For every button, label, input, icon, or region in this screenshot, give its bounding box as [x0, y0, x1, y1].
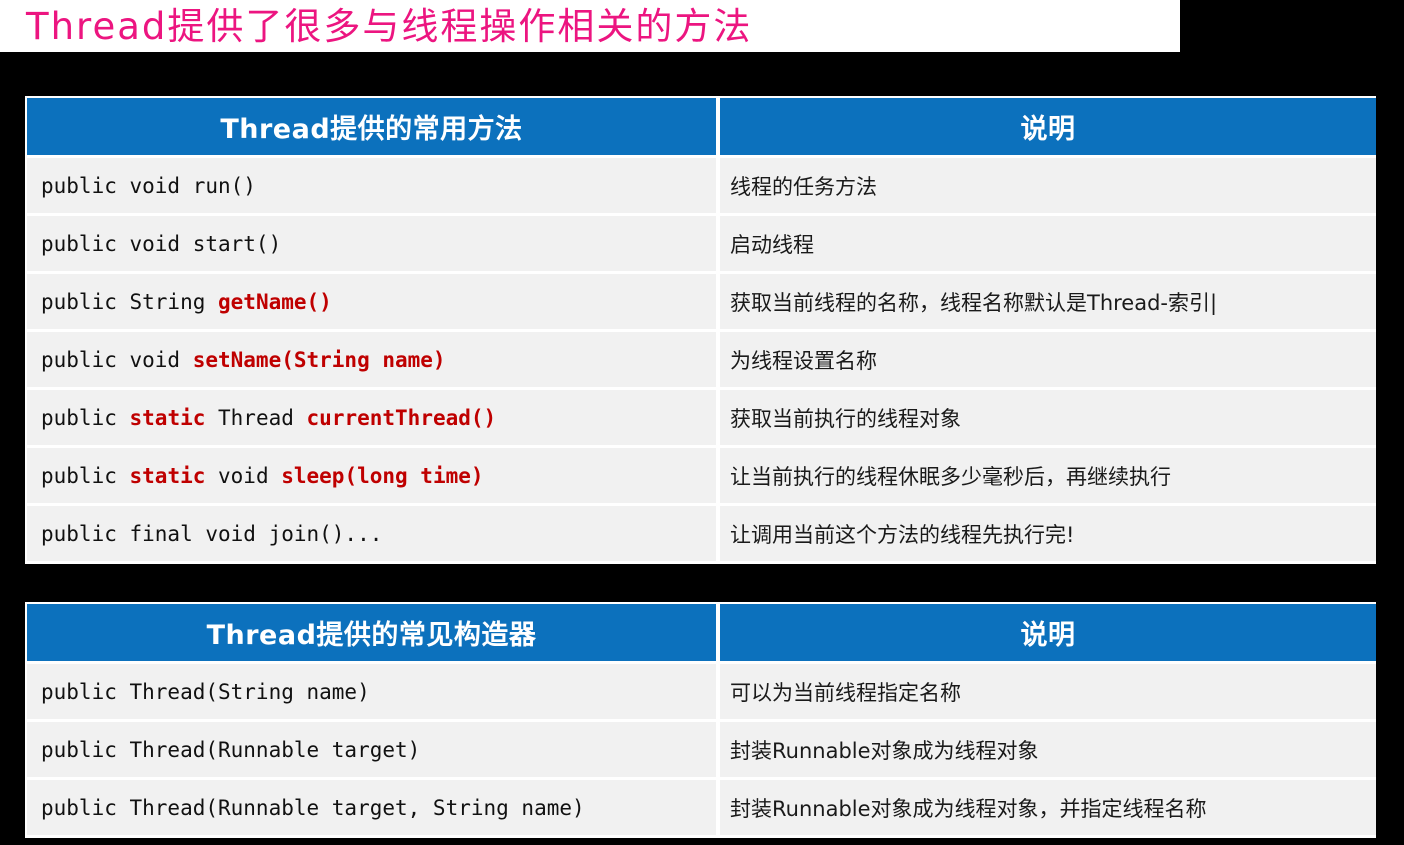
- code-text: public String: [41, 290, 218, 314]
- cell-description: 让调用当前这个方法的线程先执行完!: [720, 506, 1376, 561]
- column-header-description: 说明: [720, 604, 1376, 661]
- cell-description: 为线程设置名称: [720, 332, 1376, 387]
- code-highlight: sleep(long time): [281, 464, 483, 488]
- code-text: void: [205, 464, 281, 488]
- code-highlight: getName(): [218, 290, 332, 314]
- cell-method-signature: public Thread(Runnable target, String na…: [27, 780, 716, 835]
- column-header-signature: Thread提供的常见构造器: [27, 604, 716, 661]
- code-text: public final void join()...: [41, 522, 382, 546]
- cell-description: 让当前执行的线程休眠多少毫秒后，再继续执行: [720, 448, 1376, 503]
- table-bottom-rule: [25, 835, 1376, 838]
- column-header-signature: Thread提供的常用方法: [27, 98, 716, 155]
- cell-method-signature: public String getName(): [27, 274, 716, 329]
- table-thread-methods: Thread提供的常用方法说明public void run()线程的任务方法p…: [25, 96, 1376, 564]
- code-text: public Thread(String name): [41, 680, 370, 704]
- cell-description: 线程的任务方法: [720, 158, 1376, 213]
- table-thread-constructors: Thread提供的常见构造器说明public Thread(String nam…: [25, 602, 1376, 838]
- table-row: public void start()启动线程: [25, 216, 1376, 271]
- column-header-description: 说明: [720, 98, 1376, 155]
- table-row: public void run()线程的任务方法: [25, 158, 1376, 213]
- code-highlight: static: [130, 464, 206, 488]
- cell-method-signature: public void start(): [27, 216, 716, 271]
- code-text: public void start(): [41, 232, 281, 256]
- code-text: public: [41, 464, 130, 488]
- code-text: public Thread(Runnable target): [41, 738, 420, 762]
- cell-method-signature: public static Thread currentThread(): [27, 390, 716, 445]
- code-highlight: currentThread(): [307, 406, 497, 430]
- table-row: public Thread(Runnable target)封装Runnable…: [25, 722, 1376, 777]
- table-header-row: Thread提供的常用方法说明: [25, 98, 1376, 155]
- title-banner: Thread提供了很多与线程操作相关的方法: [0, 0, 1180, 52]
- table-header-row: Thread提供的常见构造器说明: [25, 604, 1376, 661]
- cell-description: 获取当前线程的名称，线程名称默认是Thread-索引|: [720, 274, 1376, 329]
- table-bottom-rule: [25, 561, 1376, 564]
- cell-description: 可以为当前线程指定名称: [720, 664, 1376, 719]
- cell-method-signature: public static void sleep(long time): [27, 448, 716, 503]
- cell-method-signature: public Thread(String name): [27, 664, 716, 719]
- cell-description: 启动线程: [720, 216, 1376, 271]
- table-row: public Thread(String name)可以为当前线程指定名称: [25, 664, 1376, 719]
- table-row: public static Thread currentThread()获取当前…: [25, 390, 1376, 445]
- cell-description: 封装Runnable对象成为线程对象，并指定线程名称: [720, 780, 1376, 835]
- table-row: public void setName(String name)为线程设置名称: [25, 332, 1376, 387]
- page-title: Thread提供了很多与线程操作相关的方法: [26, 8, 752, 45]
- cell-method-signature: public void run(): [27, 158, 716, 213]
- table-row: public String getName()获取当前线程的名称，线程名称默认是…: [25, 274, 1376, 329]
- code-text: public void run(): [41, 174, 256, 198]
- cell-method-signature: public final void join()...: [27, 506, 716, 561]
- code-text: public: [41, 406, 130, 430]
- cell-description: 封装Runnable对象成为线程对象: [720, 722, 1376, 777]
- cell-method-signature: public Thread(Runnable target): [27, 722, 716, 777]
- table-row: public final void join()...让调用当前这个方法的线程先…: [25, 506, 1376, 561]
- code-text: public void: [41, 348, 193, 372]
- code-text: Thread: [205, 406, 306, 430]
- cell-method-signature: public void setName(String name): [27, 332, 716, 387]
- code-highlight: static: [130, 406, 206, 430]
- code-highlight: setName(String name): [193, 348, 446, 372]
- cell-description: 获取当前执行的线程对象: [720, 390, 1376, 445]
- table-row: public static void sleep(long time)让当前执行…: [25, 448, 1376, 503]
- code-text: public Thread(Runnable target, String na…: [41, 796, 585, 820]
- table-row: public Thread(Runnable target, String na…: [25, 780, 1376, 835]
- slide-root: Thread提供了很多与线程操作相关的方法 Thread提供的常用方法说明pub…: [0, 0, 1404, 845]
